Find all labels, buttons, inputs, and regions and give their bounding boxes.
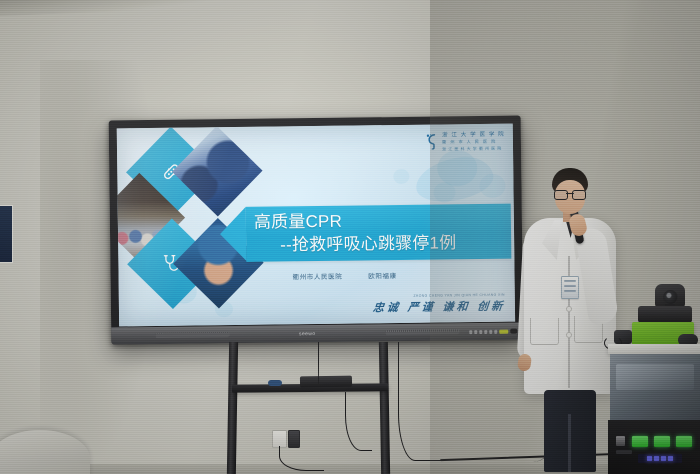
rack-display-segment [661,456,666,461]
rack-status-led [654,436,670,447]
logo-line-1: 浙 江 大 学 医 学 院 [442,130,505,139]
speaker-grille-right [385,329,459,335]
presentation-room-photo: 高质量CPR --抢救呼吸心跳骤停1例 衢州市人民医院 欧阳福康 [0,0,700,474]
title-line-1: 高质量CPR [254,207,515,233]
shelf-small-device[interactable] [268,380,282,386]
cable [318,342,319,384]
rack-knob[interactable] [616,436,625,446]
interactive-display[interactable]: 高质量CPR --抢救呼吸心跳骤停1例 衢州市人民医院 欧阳福康 [109,115,524,344]
cable [345,392,372,451]
display-button[interactable] [474,330,477,334]
byline-presenter: 欧阳福康 [368,270,397,280]
rack-status-led [676,436,692,447]
camera-lens-icon [663,290,678,305]
speaker-grille-left [155,332,229,338]
motto-chinese: 忠诚 严谨 谦和 创新 [372,298,506,316]
display-button[interactable] [484,329,487,333]
display-button[interactable] [494,329,497,333]
hospital-logo-text: 浙 江 大 学 医 学 院 衢 州 市 人 民 医 院 浙 江 医 科 大 学 … [442,130,505,153]
cable [398,342,441,461]
equipment-cabinet [610,354,700,420]
display-button[interactable] [469,330,472,334]
display-stand-leg-left [227,342,238,474]
rack-display [638,454,682,463]
slide-title: 高质量CPR --抢救呼吸心跳骤停1例 [254,207,515,257]
badge-line [564,285,576,287]
coat-button [566,306,572,312]
hospital-logo-mark [425,133,439,149]
coat-pocket-left [530,318,559,345]
ceiling-edge [0,0,240,16]
equipment-table-top [608,344,700,354]
camera-base-unit [638,306,692,323]
display-button[interactable] [479,329,482,333]
rack-display-segment [654,456,659,461]
power-indicator[interactable] [499,329,508,333]
background-bubble [393,169,409,184]
hospital-logo: 浙 江 大 学 医 学 院 衢 州 市 人 民 医 院 浙 江 医 科 大 学 … [425,130,505,153]
badge-line [564,280,576,282]
display-brand-label: seewo [299,331,316,337]
badge-line [564,290,576,292]
presentation-slide: 高质量CPR --抢救呼吸心跳骤停1例 衢州市人民医院 欧阳福康 [117,124,515,327]
title-line-2: --抢救呼吸心跳骤停1例 [254,230,515,257]
byline-organization: 衢州市人民医院 [293,271,343,282]
rack-display-segment [668,456,673,461]
logo-line-3: 浙 江 医 科 大 学 衢 州 医 院 [442,146,505,153]
eyeglasses-icon [554,190,586,198]
media-player-box[interactable] [300,376,352,388]
rack-display-segment [647,456,652,461]
slide-byline: 衢州市人民医院 欧阳福康 [293,270,397,281]
av-rack-unit[interactable] [608,420,700,474]
lens-right [572,190,586,200]
display-stand-leg-right [379,342,390,474]
presenter-id-badge [561,276,579,299]
background-bubble [479,174,505,198]
hospital-motto: ZHONG CHENG YAN JIN QIAN HE CHUANG XIN 忠… [372,293,505,316]
rack-status-led [632,436,648,447]
presenter-trousers [544,390,596,472]
rack-slot [616,450,632,454]
lens-left [554,190,568,200]
coat-button [566,332,572,338]
logo-line-2: 衢 州 市 人 民 医 院 [442,139,505,146]
display-screen[interactable]: 高质量CPR --抢救呼吸心跳骤停1例 衢州市人民医院 欧阳福康 [117,124,515,327]
wall-control-panel[interactable] [0,205,13,263]
display-button[interactable] [489,329,492,333]
